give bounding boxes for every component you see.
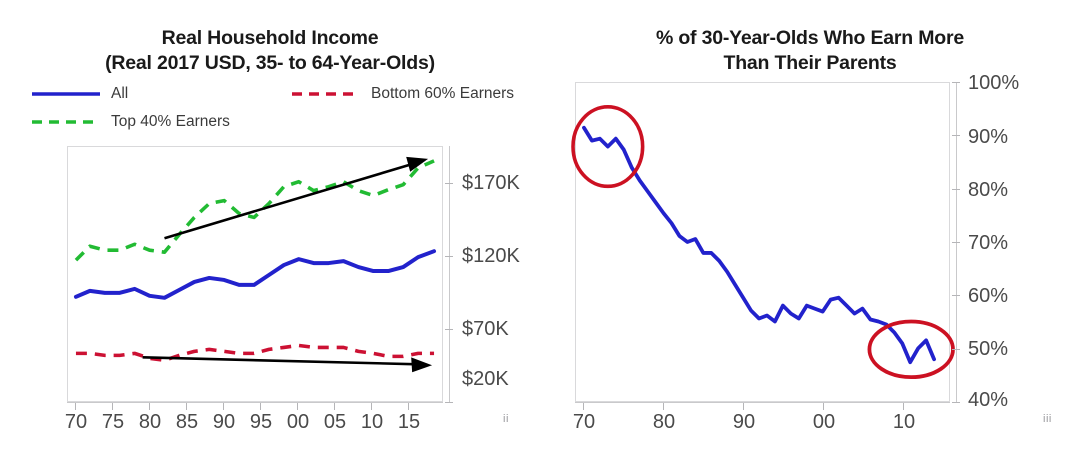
left-chart-xtick-label: 10 xyxy=(361,412,383,432)
left-chart-xtick-label: 95 xyxy=(250,412,272,432)
right-chart-plot-area xyxy=(575,82,950,402)
right-chart-title: % of 30-Year-Olds Who Earn More Than The… xyxy=(540,26,1080,76)
series-line-all xyxy=(76,251,434,298)
left-chart-ytick-label: $20K xyxy=(462,369,509,389)
series-line-bottom60 xyxy=(76,345,434,360)
left-chart-ytick-label: $170K xyxy=(462,173,520,193)
right-chart-xtick-label: 00 xyxy=(813,412,835,432)
left-chart-xtick-label: 85 xyxy=(176,412,198,432)
left-chart-plot-area xyxy=(67,146,443,402)
right-chart-ytick-label: 40% xyxy=(968,390,1008,410)
series-line-earn-more-than-parents xyxy=(584,128,934,363)
right-chart-ytick-label: 90% xyxy=(968,127,1008,147)
left-chart-xtick xyxy=(112,403,113,410)
left-chart-ytick-label: $120K xyxy=(462,246,520,266)
legend-label-bottom60: Bottom 60% Earners xyxy=(371,86,514,102)
right-chart-ytick xyxy=(952,349,960,350)
legend-item-top40: Top 40% Earners xyxy=(30,114,230,130)
left-chart-xtick-label: 90 xyxy=(213,412,235,432)
left-chart-xtick xyxy=(408,403,409,410)
legend-label-all: All xyxy=(111,86,128,102)
right-chart-xtick xyxy=(743,403,744,410)
left-chart-xtick-label: 70 xyxy=(65,412,87,432)
legend-swatch-all-icon xyxy=(30,87,102,101)
legend-swatch-top40-icon xyxy=(30,115,102,129)
right-chart-series-svg xyxy=(576,83,949,401)
left-chart-legend: All Bottom 60% Earners Top 40% Earners xyxy=(18,86,534,142)
right-chart-ytick-label: 70% xyxy=(968,233,1008,253)
left-chart-xtick xyxy=(371,403,372,410)
right-chart-footnote-marker: iii xyxy=(1043,414,1052,425)
left-chart-xtick-label: 80 xyxy=(139,412,161,432)
left-chart-xtick-label: 75 xyxy=(102,412,124,432)
right-chart-ytick xyxy=(952,135,960,136)
left-chart-series-svg xyxy=(68,147,442,401)
legend-item-bottom60: Bottom 60% Earners xyxy=(290,86,514,102)
legend-item-all: All xyxy=(30,86,128,102)
legend-label-top40: Top 40% Earners xyxy=(111,114,230,130)
right-chart-xtick-label: 90 xyxy=(733,412,755,432)
right-chart-ytick-label: 80% xyxy=(968,180,1008,200)
annotation-late-cohort-ellipse xyxy=(869,322,953,378)
left-chart-xtick-label: 00 xyxy=(287,412,309,432)
left-chart-xtick xyxy=(297,403,298,410)
left-chart-footnote-marker: ii xyxy=(503,414,509,425)
left-chart-xaxis-line xyxy=(67,402,443,403)
left-chart-yaxis-line xyxy=(449,146,450,403)
right-chart-xtick-label: 10 xyxy=(893,412,915,432)
left-chart-title-line-1: Real Household Income xyxy=(0,26,540,51)
left-chart-xtick xyxy=(260,403,261,410)
left-chart-ytick xyxy=(445,256,453,257)
left-chart-xtick xyxy=(149,403,150,410)
left-chart-panel: Real Household Income (Real 2017 USD, 35… xyxy=(0,0,540,467)
annotation-rising-arrow xyxy=(164,157,428,238)
legend-swatch-bottom60-icon xyxy=(290,87,362,101)
left-chart-xtick xyxy=(334,403,335,410)
right-chart-panel: % of 30-Year-Olds Who Earn More Than The… xyxy=(540,0,1080,467)
right-chart-xtick xyxy=(903,403,904,410)
right-chart-ytick xyxy=(952,189,960,190)
right-chart-ytick-label: 50% xyxy=(968,339,1008,359)
left-chart-ytick xyxy=(445,402,453,403)
left-chart-title: Real Household Income (Real 2017 USD, 35… xyxy=(0,26,540,76)
right-chart-ytick xyxy=(952,242,960,243)
right-chart-xtick-label: 80 xyxy=(653,412,675,432)
right-chart-xtick xyxy=(823,403,824,410)
right-chart-ytick-label: 100% xyxy=(968,73,1019,93)
left-chart-xtick-label: 05 xyxy=(324,412,346,432)
left-chart-title-line-2: (Real 2017 USD, 35- to 64-Year-Olds) xyxy=(0,51,540,76)
right-chart-ytick xyxy=(952,82,960,83)
left-chart-ytick xyxy=(445,329,453,330)
right-chart-ytick-label: 60% xyxy=(968,286,1008,306)
left-chart-xtick-label: 15 xyxy=(398,412,420,432)
right-chart-xtick xyxy=(583,403,584,410)
right-chart-xaxis-line xyxy=(575,402,950,403)
right-chart-xtick xyxy=(663,403,664,410)
right-chart-ytick xyxy=(952,295,960,296)
annotation-flat-arrow xyxy=(143,357,432,372)
left-chart-ytick xyxy=(445,183,453,184)
right-chart-xtick-label: 70 xyxy=(573,412,595,432)
two-chart-figure: Real Household Income (Real 2017 USD, 35… xyxy=(0,0,1080,467)
right-chart-title-line-1: % of 30-Year-Olds Who Earn More xyxy=(540,26,1080,51)
left-chart-ytick-label: $70K xyxy=(462,319,509,339)
left-chart-xtick xyxy=(186,403,187,410)
left-chart-xtick xyxy=(223,403,224,410)
right-chart-ytick xyxy=(952,402,960,403)
left-chart-xtick xyxy=(75,403,76,410)
